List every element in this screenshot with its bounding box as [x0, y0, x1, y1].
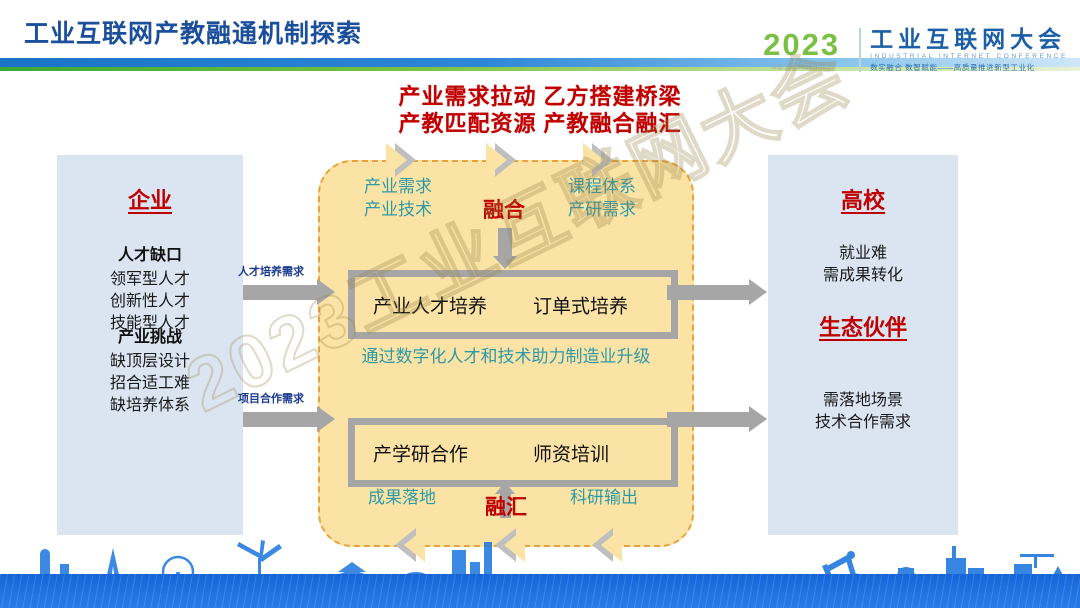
- ecosystem-title: 生态伙伴: [768, 310, 958, 342]
- curriculum-line-1: 课程体系: [568, 176, 636, 199]
- logo-year-block: 2023 中国·苏州 9月14日-16日: [763, 29, 850, 71]
- outcome-landing-text: 成果落地: [368, 487, 436, 510]
- university-item-1: 就业难: [768, 243, 958, 265]
- talent-gap-item-2: 创新性人才: [57, 291, 243, 313]
- teacher-training-label: 师资培训: [533, 439, 609, 466]
- research-cooperation-box: 产学研合作 师资培训: [348, 418, 678, 487]
- industry-demand-line-2: 产业技术: [364, 199, 432, 222]
- logo-tagline: 数实融合 数智赋能——高质量推进新型工业化: [870, 62, 1068, 73]
- flow-arrow-talent-demand: [243, 285, 335, 300]
- fusion-keyword: 融合: [483, 194, 525, 224]
- ecosystem-item-1: 需落地场景: [768, 390, 958, 412]
- ecosystem-block: 生态伙伴 需落地场景 技术合作需求: [768, 310, 958, 434]
- logo-year: 2023: [763, 29, 840, 60]
- sea-lines: [0, 574, 1080, 608]
- logo-name-en: INDUSTRIAL INTERNET CONFERENCE: [870, 53, 1068, 60]
- slide-canvas: 工业互联网产教融通机制探索 2023 中国·苏州 9月14日-16日 工业互联网…: [0, 0, 1080, 608]
- logo-name-block: 工业互联网大会 INDUSTRIAL INTERNET CONFERENCE 数…: [870, 27, 1068, 73]
- flow-arrow-to-ecosystem: [667, 412, 767, 427]
- industry-challenge-item-3: 缺培养体系: [57, 395, 243, 417]
- conference-logo: 2023 中国·苏州 9月14日-16日 工业互联网大会 INDUSTRIAL …: [763, 22, 1068, 78]
- curriculum-line-2: 产研需求: [568, 199, 636, 222]
- page-title: 工业互联网产教融通机制探索: [24, 14, 362, 50]
- research-cooperation-label: 产学研合作: [373, 439, 468, 466]
- university-partner-panel: 高校 就业难 需成果转化 生态伙伴 需落地场景 技术合作需求: [768, 155, 958, 535]
- industry-challenge-item-1: 缺顶层设计: [57, 351, 243, 373]
- university-item-2: 需成果转化: [768, 265, 958, 287]
- industry-challenge-item-2: 招合适工难: [57, 373, 243, 395]
- talent-training-label: 产业人才培养: [373, 291, 487, 318]
- headline-line-2: 产教匹配资源 产教融合融汇: [0, 111, 1080, 138]
- logo-name-cn: 工业互联网大会: [870, 27, 1068, 51]
- headline-line-1: 产业需求拉动 乙方搭建桥梁: [0, 84, 1080, 111]
- integration-caption: 通过数字化人才和技术助力制造业升级: [320, 342, 692, 367]
- logo-year-note: 中国·苏州 9月14日-16日: [772, 64, 832, 71]
- order-training-label: 订单式培养: [533, 291, 628, 318]
- headline: 产业需求拉动 乙方搭建桥梁 产教匹配资源 产教融合融汇: [0, 84, 1080, 138]
- ecosystem-item-2: 技术合作需求: [768, 412, 958, 434]
- university-title: 高校: [768, 183, 958, 215]
- flow-label-talent-demand: 人才培养需求: [238, 263, 304, 279]
- industry-demand-line-1: 产业需求: [364, 176, 432, 199]
- flow-arrow-project-demand: [243, 412, 335, 427]
- enterprise-block-talent: 企业 人才缺口 领军型人才 创新性人才 技能型人才: [57, 183, 243, 335]
- talent-training-box: 产业人才培养 订单式培养: [348, 270, 678, 339]
- enterprise-block-challenge: 产业挑战 缺顶层设计 招合适工难 缺培养体系: [57, 323, 243, 417]
- integration-panel: 产业需求 产业技术 课程体系 产研需求 融合 产业人才培养 订单式培养 通过数字…: [318, 160, 694, 547]
- university-block: 高校 就业难 需成果转化: [768, 183, 958, 287]
- talent-gap-heading: 人才缺口: [57, 241, 243, 265]
- research-output-text: 科研输出: [570, 487, 638, 510]
- convergence-keyword: 融汇: [485, 491, 527, 521]
- city-skyline-graphic: [0, 528, 1080, 608]
- curriculum-text: 课程体系 产研需求: [568, 176, 636, 222]
- industry-demand-text: 产业需求 产业技术: [364, 176, 432, 222]
- industry-challenge-heading: 产业挑战: [57, 323, 243, 347]
- flow-label-project-demand: 项目合作需求: [238, 390, 304, 406]
- talent-gap-item-1: 领军型人才: [57, 269, 243, 291]
- enterprise-title: 企业: [57, 183, 243, 215]
- logo-divider: [859, 28, 861, 72]
- enterprise-panel: 企业 人才缺口 领军型人才 创新性人才 技能型人才 产业挑战 缺顶层设计 招合适…: [57, 155, 243, 535]
- flow-arrow-to-university: [667, 285, 767, 300]
